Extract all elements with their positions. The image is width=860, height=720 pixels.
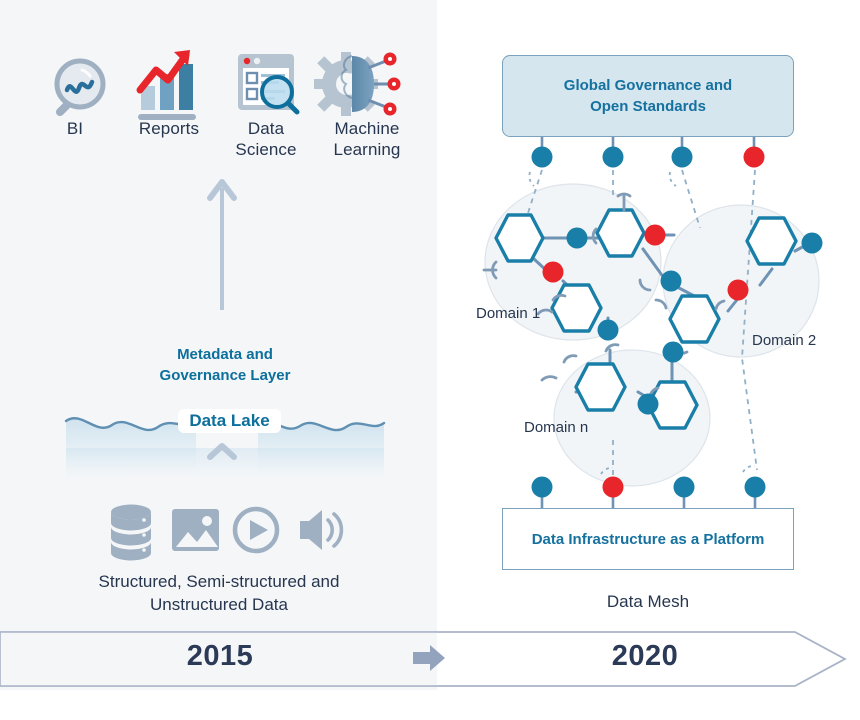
- domain-1-label: Domain 1: [476, 305, 540, 322]
- data-lake-label: Data Lake: [178, 409, 281, 433]
- metadata-line1: Metadata and: [66, 344, 384, 365]
- consumer-reports-label: Reports: [132, 118, 206, 139]
- consumer-bi-label: BI: [40, 118, 110, 139]
- database-icon: [111, 505, 151, 561]
- global-governance-box[interactable]: Global Governance and Open Standards: [502, 55, 794, 137]
- data-sources-caption-line1: Structured, Semi-structured and: [40, 570, 398, 593]
- timeline-year-2015: 2015: [160, 640, 280, 673]
- data-sources-caption: Structured, Semi-structured and Unstruct…: [40, 570, 398, 616]
- gear-brain-icon: [314, 52, 401, 116]
- data-mesh-caption: Data Mesh: [502, 592, 794, 612]
- consumer-machine-learning[interactable]: Machine Learning: [322, 118, 412, 160]
- browser-magnifier-icon: [238, 54, 297, 112]
- consumer-machine-learning-label-line2: Learning: [322, 139, 412, 160]
- data-infrastructure-platform-box[interactable]: Data Infrastructure as a Platform: [502, 508, 794, 570]
- consumer-data-science[interactable]: Data Science: [228, 118, 304, 160]
- data-infrastructure-platform-text: Data Infrastructure as a Platform: [532, 531, 765, 548]
- timeline-year-2020: 2020: [585, 640, 705, 673]
- governance-connector-nodes: [532, 147, 765, 168]
- global-governance-line1: Global Governance and: [564, 75, 732, 96]
- bar-chart-trend-icon: [138, 50, 196, 120]
- video-play-icon: [235, 509, 277, 551]
- domain-n-label: Domain n: [524, 419, 588, 436]
- domain-2-label: Domain 2: [752, 332, 816, 349]
- magnifier-chart-icon: [57, 61, 103, 112]
- consumer-bi[interactable]: BI: [40, 118, 110, 139]
- image-icon: [172, 509, 219, 551]
- consumer-machine-learning-label-line1: Machine: [322, 118, 412, 139]
- global-governance-text: Global Governance and Open Standards: [564, 75, 732, 117]
- metadata-governance-layer-text: Metadata and Governance Layer: [66, 344, 384, 386]
- audio-speaker-icon: [300, 510, 341, 550]
- data-sources-caption-line2: Unstructured Data: [40, 593, 398, 616]
- metadata-line2: Governance Layer: [66, 365, 384, 386]
- consumer-data-science-label-line1: Data: [228, 118, 304, 139]
- consumer-reports[interactable]: Reports: [132, 118, 206, 139]
- global-governance-line2: Open Standards: [564, 96, 732, 117]
- consumer-data-science-label-line2: Science: [228, 139, 304, 160]
- upward-flow-arrow-icon: [210, 182, 234, 310]
